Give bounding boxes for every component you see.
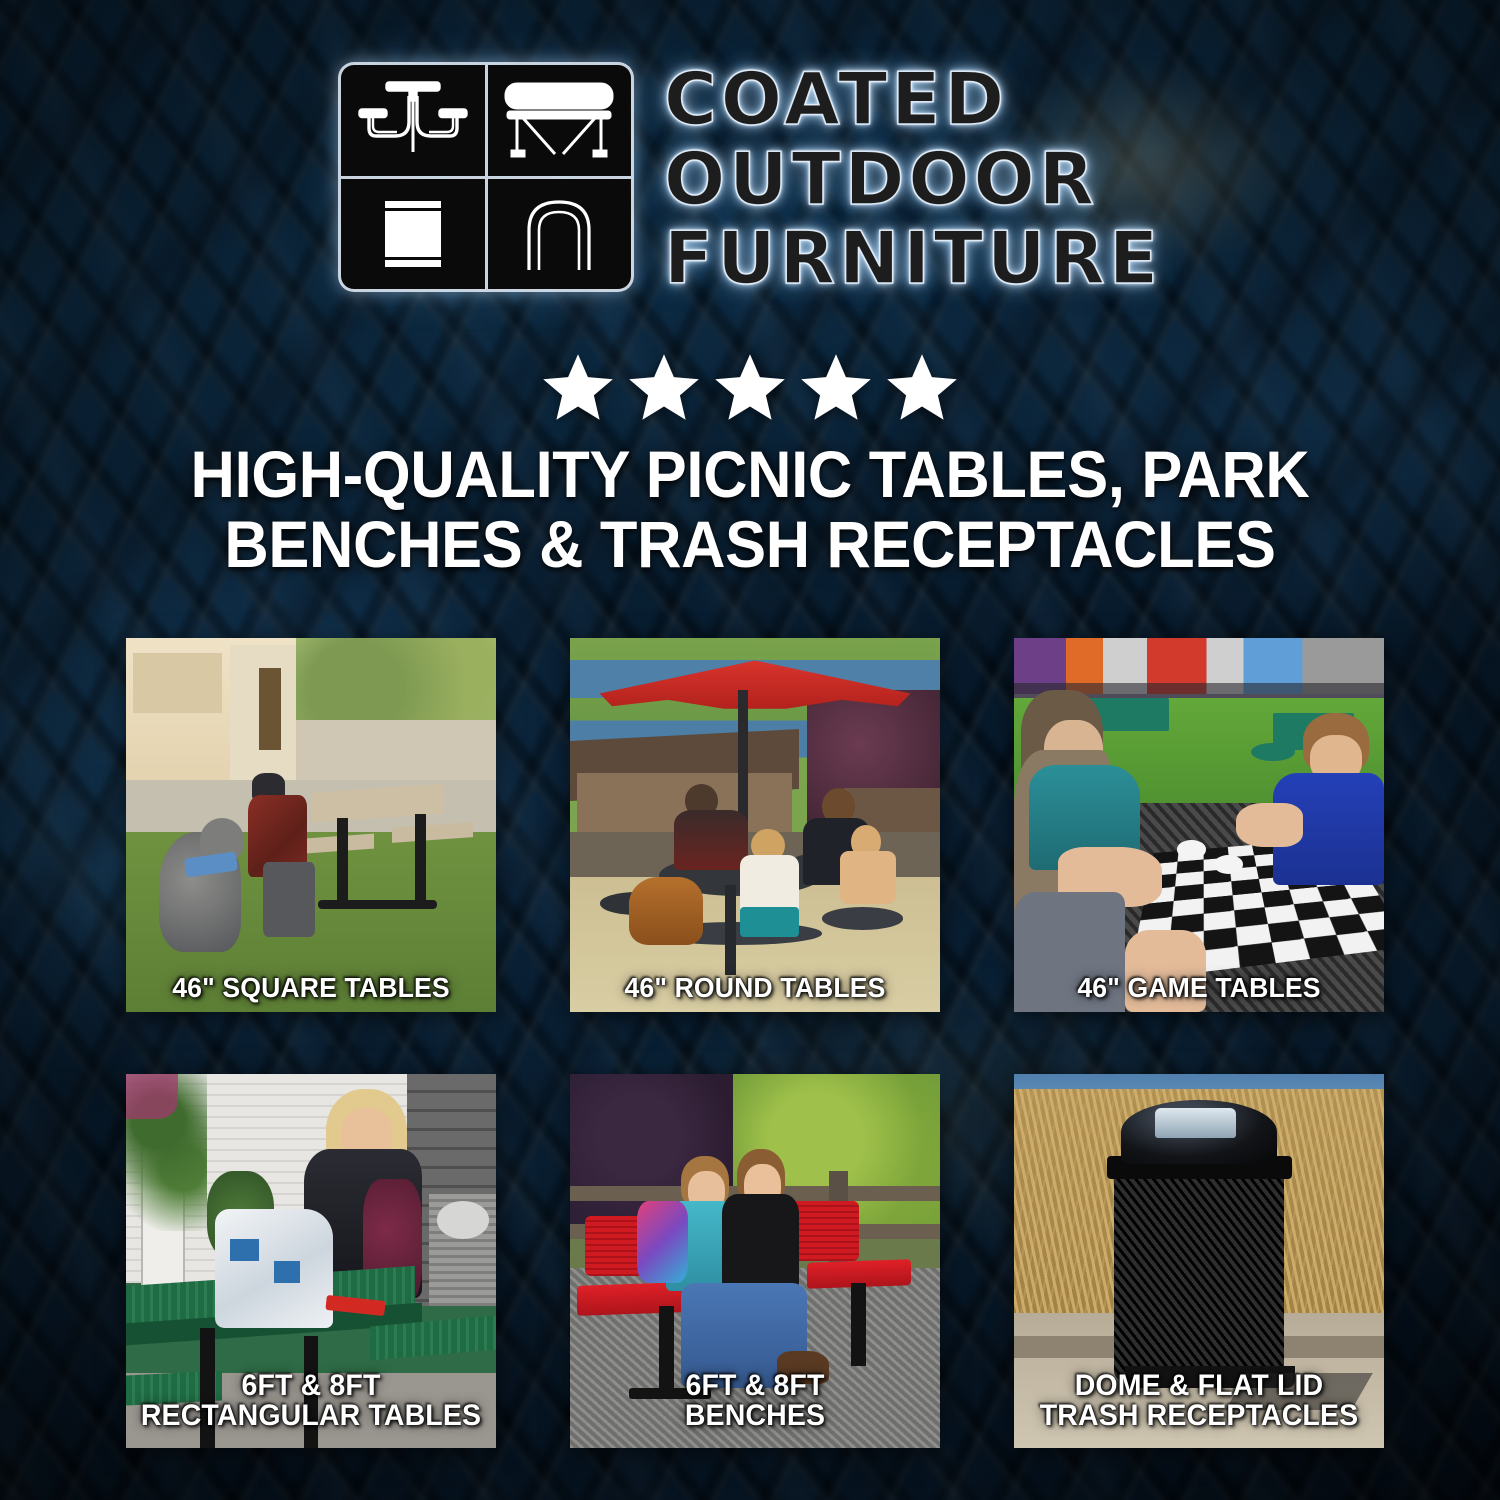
product-caption-rectangular-tables: 6FT & 8FT RECTANGULAR TABLES (135, 1371, 487, 1432)
brand-header: COATED OUTDOOR FURNITURE (0, 62, 1500, 293)
star-icon (714, 352, 786, 422)
product-card-trash-receptacles[interactable]: DOME & FLAT LID TRASH RECEPTACLES (1014, 1074, 1384, 1448)
star-icon (542, 352, 614, 422)
star-icon (886, 352, 958, 422)
product-photo-square-tables (126, 638, 496, 1012)
bench-icon (488, 65, 632, 176)
product-caption-benches: 6FT & 8FT BENCHES (579, 1371, 931, 1432)
brand-line-3: FURNITURE (664, 225, 1162, 293)
product-card-game-tables[interactable]: 46" GAME TABLES (1014, 638, 1384, 1012)
product-caption-game-tables: 46" GAME TABLES (1023, 974, 1375, 1002)
star-icon (800, 352, 872, 422)
logo-mark[interactable] (338, 62, 634, 292)
product-card-benches[interactable]: 6FT & 8FT BENCHES (570, 1074, 940, 1448)
trash-receptacle-icon (341, 179, 485, 290)
product-caption-round-tables: 46" ROUND TABLES (579, 974, 931, 1002)
product-card-square-tables[interactable]: 46" SQUARE TABLES (126, 638, 496, 1012)
product-photo-round-tables (570, 638, 940, 1012)
picnic-table-icon (341, 65, 485, 176)
star-icon (628, 352, 700, 422)
brand-line-2: OUTDOOR (664, 146, 1162, 214)
star-rating (0, 352, 1500, 422)
brand-wordmark: COATED OUTDOOR FURNITURE (664, 62, 1162, 293)
brand-line-1: COATED (664, 66, 1162, 134)
product-caption-square-tables: 46" SQUARE TABLES (135, 974, 487, 1002)
product-photo-game-tables (1014, 638, 1384, 1012)
page-title: HIGH-QUALITY PICNIC TABLES, PARK BENCHES… (108, 440, 1391, 580)
product-caption-trash-receptacles: DOME & FLAT LID TRASH RECEPTACLES (1023, 1371, 1375, 1432)
product-card-rectangular-tables[interactable]: 6FT & 8FT RECTANGULAR TABLES (126, 1074, 496, 1448)
product-grid: 46" SQUARE TABLES (126, 638, 1384, 1448)
product-card-round-tables[interactable]: 46" ROUND TABLES (570, 638, 940, 1012)
arch-bike-rack-icon (488, 179, 632, 290)
